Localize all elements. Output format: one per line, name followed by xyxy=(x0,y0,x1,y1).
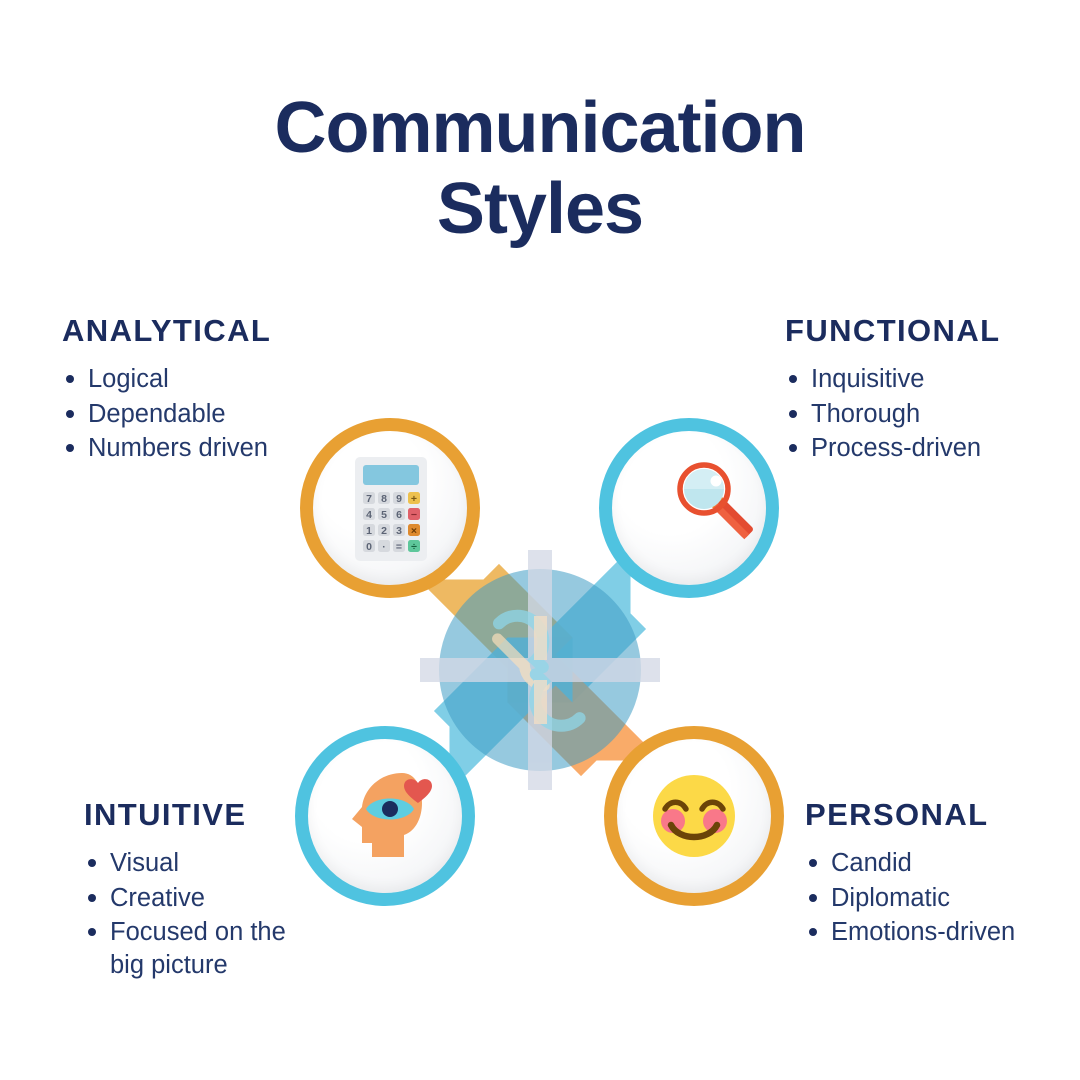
trait-list-intuitive: Visual Creative Focused on the big pictu… xyxy=(84,847,414,982)
list-item: Dependable xyxy=(62,398,392,431)
quadrant-personal: PERSONAL Candid Diplomatic Emotions-driv… xyxy=(805,797,1080,951)
quadrant-analytical: ANALYTICAL Logical Dependable Numbers dr… xyxy=(62,313,392,467)
list-item: Numbers driven xyxy=(62,432,392,465)
list-item: Candid xyxy=(805,847,1080,880)
quadrant-heading-personal: PERSONAL xyxy=(805,797,1080,833)
list-item: Focused on the big picture xyxy=(84,916,294,981)
trait-list-functional: Inquisitive Thorough Process-driven xyxy=(785,363,1080,465)
trait-list-analytical: Logical Dependable Numbers driven xyxy=(62,363,392,465)
list-item: Emotions-driven xyxy=(805,916,1080,949)
node-ring xyxy=(604,726,784,906)
node-ring xyxy=(599,418,779,598)
title-line-1: Communication xyxy=(274,88,805,168)
list-item: Visual xyxy=(84,847,414,880)
list-item: Thorough xyxy=(785,398,1080,431)
trait-list-personal: Candid Diplomatic Emotions-driven xyxy=(805,847,1080,949)
list-item: Creative xyxy=(84,882,414,915)
quadrant-heading-analytical: ANALYTICAL xyxy=(62,313,392,349)
icon-node-personal[interactable] xyxy=(604,726,784,906)
page-title: Communication Styles xyxy=(0,88,1080,249)
list-item: Diplomatic xyxy=(805,882,1080,915)
list-item: Process-driven xyxy=(785,432,1080,465)
icon-node-functional[interactable] xyxy=(599,418,779,598)
quadrant-functional: FUNCTIONAL Inquisitive Thorough Process-… xyxy=(785,313,1080,467)
list-item: Inquisitive xyxy=(785,363,1080,396)
infographic-canvas: Communication Styles xyxy=(0,0,1080,1080)
quadrant-heading-intuitive: INTUITIVE xyxy=(84,797,414,833)
list-item: Logical xyxy=(62,363,392,396)
quadrant-intuitive: INTUITIVE Visual Creative Focused on the… xyxy=(84,797,414,984)
quadrant-heading-functional: FUNCTIONAL xyxy=(785,313,1080,349)
title-line-2: Styles xyxy=(0,169,1080,250)
